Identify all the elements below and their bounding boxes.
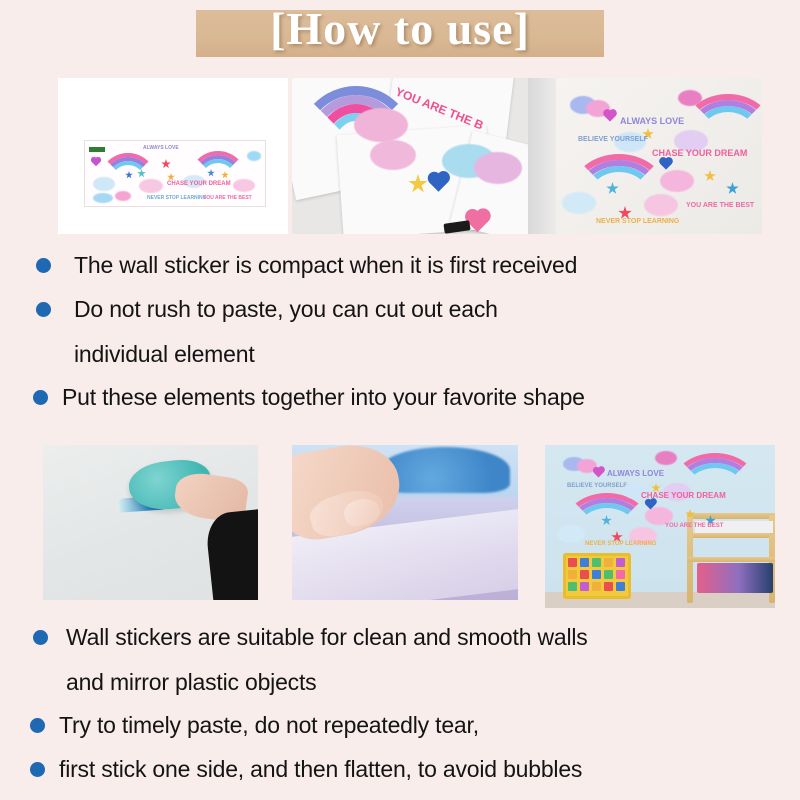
- wipe-wall-photo: [43, 445, 258, 600]
- heart-shape: [604, 110, 615, 121]
- heart-shape: [92, 158, 100, 166]
- shelf-cell: [616, 570, 625, 579]
- sticker-text-always-love: ALWAYS LOVE: [620, 116, 684, 126]
- bunk-bed-frame: [687, 533, 775, 538]
- cloud-shape: [93, 177, 115, 191]
- list-item-label: individual element: [74, 336, 255, 380]
- peel-backing-photo: [292, 445, 518, 600]
- barcode-label: [89, 147, 105, 152]
- bullet-dot-icon: [33, 630, 48, 645]
- list-item: Do not rush to paste, you can cut out ea…: [0, 292, 800, 336]
- list-item: Try to timely paste, do not repeatedly t…: [0, 708, 800, 752]
- sticker-text-chase-your-dream: CHASE YOUR DREAM: [641, 491, 726, 500]
- heart-shape: [660, 158, 671, 169]
- shelf-cell: [568, 558, 577, 567]
- shelf-cell: [616, 558, 625, 567]
- cloud-shape: [678, 90, 702, 106]
- sticker-text-never-stop-learning: NEVER STOP LEARNING: [596, 218, 679, 225]
- cloud-shape: [115, 191, 131, 201]
- list-item-label: Wall stickers are suitable for clean and…: [66, 620, 588, 654]
- cloud-shape: [644, 194, 678, 216]
- list-item: first stick one side, and then flatten, …: [0, 752, 800, 796]
- sticker-text-you-are-the-best: YOU ARE THE BEST: [686, 202, 754, 209]
- star-shape: [704, 170, 716, 182]
- sticker-text-never-stop-learning: NEVER STOP LEARNING: [147, 195, 207, 201]
- sticker-sheet-card: ALWAYS LOVE CHASE YOUR DREAM NEVER STOP …: [84, 140, 266, 207]
- sticker-text-you-are-the-best: YOU ARE THE BEST: [665, 523, 723, 529]
- instructions-list-top: The wall sticker is compact when it is f…: [0, 248, 800, 424]
- bullet-dot-icon: [33, 390, 48, 405]
- cloud-shape: [233, 179, 255, 192]
- wall-edge: [528, 78, 556, 234]
- scissors-shape: [443, 220, 470, 234]
- sticker-text-you-are-the-best: YOU ARE THE BEST: [203, 195, 252, 201]
- sticker-text-always-love: ALWAYS LOVE: [143, 145, 179, 151]
- sleeve-shape: [204, 508, 258, 600]
- star-shape: [161, 159, 171, 169]
- cloud-shape: [93, 193, 113, 203]
- rainbow-arc: [683, 463, 747, 511]
- shelf-cell: [604, 570, 613, 579]
- sticker-text-chase-your-dream: CHASE YOUR DREAM: [652, 148, 747, 158]
- shelf-cell: [580, 558, 589, 567]
- sticker-sheet-photo: ALWAYS LOVE CHASE YOUR DREAM NEVER STOP …: [58, 78, 288, 234]
- cloud-shape: [247, 151, 261, 161]
- list-item-label: and mirror plastic objects: [66, 664, 316, 708]
- sticker-text-chase-your-dream: CHASE YOUR DREAM: [167, 181, 231, 187]
- bullet-dot-icon: [36, 302, 51, 317]
- bullet-dot-icon: [30, 718, 45, 733]
- cut-elements-photo: YOU ARE THE B: [292, 78, 530, 234]
- star-shape: [726, 182, 739, 195]
- list-item-continuation: and mirror plastic objects: [0, 664, 800, 708]
- sticker-text-believe-yourself: BELIEVE YOURSELF: [567, 483, 627, 489]
- rainbow-arc: [584, 166, 654, 224]
- list-item-label: Try to timely paste, do not repeatedly t…: [59, 708, 479, 742]
- page-title: [How to use]: [0, 0, 800, 58]
- list-item: The wall sticker is compact when it is f…: [0, 248, 800, 292]
- wall-panel: ALWAYS LOVE BELIEVE YOURSELF CHASE YOUR …: [556, 78, 762, 234]
- shelf-cell: [592, 582, 601, 591]
- toy-shelf: [563, 553, 631, 599]
- list-item-continuation: individual element: [0, 336, 800, 380]
- list-item-label: Do not rush to paste, you can cut out ea…: [74, 292, 498, 326]
- bunk-bed-frame: [687, 513, 775, 519]
- bullet-dot-icon: [30, 762, 45, 777]
- cloud-shape: [474, 152, 522, 184]
- finished-room-photo: ALWAYS LOVE BELIEVE YOURSELF CHASE YOUR …: [545, 445, 775, 608]
- shelf-cell: [604, 558, 613, 567]
- bullet-dot-icon: [36, 258, 51, 273]
- list-item-label: The wall sticker is compact when it is f…: [74, 248, 577, 282]
- sticker-text-never-stop-learning: NEVER STOP LEARNING: [585, 541, 656, 547]
- shelf-cell: [568, 582, 577, 591]
- cloud-shape: [370, 140, 416, 170]
- arranged-wall-photo: ALWAYS LOVE BELIEVE YOURSELF CHASE YOUR …: [528, 78, 762, 234]
- cloud-shape: [655, 451, 677, 465]
- bunk-bedding: [697, 563, 773, 593]
- cloud-shape: [139, 179, 163, 193]
- list-item-label: Put these elements together into your fa…: [62, 380, 585, 414]
- star-shape: [167, 173, 175, 181]
- shelf-cell: [580, 582, 589, 591]
- cloud-shape: [354, 108, 408, 142]
- bunk-bed-frame: [687, 557, 775, 562]
- shelf-cell: [568, 570, 577, 579]
- list-item: Put these elements together into your fa…: [0, 380, 800, 424]
- shelf-cell: [592, 558, 601, 567]
- cloud-shape: [660, 170, 694, 192]
- shelf-cell: [616, 582, 625, 591]
- list-item-label: first stick one side, and then flatten, …: [59, 752, 582, 786]
- shelf-cell: [580, 570, 589, 579]
- cloud-shape: [380, 447, 510, 493]
- title-section: [How to use]: [0, 0, 800, 76]
- sticker-text-believe-yourself: BELIEVE YOURSELF: [578, 136, 648, 143]
- cloud-shape: [557, 525, 585, 543]
- cloud-shape: [562, 192, 596, 214]
- list-item: Wall stickers are suitable for clean and…: [0, 620, 800, 664]
- instructions-list-bottom: Wall stickers are suitable for clean and…: [0, 620, 800, 796]
- sticker-text-always-love: ALWAYS LOVE: [607, 469, 664, 478]
- shelf-cell: [604, 582, 613, 591]
- shelf-cell: [592, 570, 601, 579]
